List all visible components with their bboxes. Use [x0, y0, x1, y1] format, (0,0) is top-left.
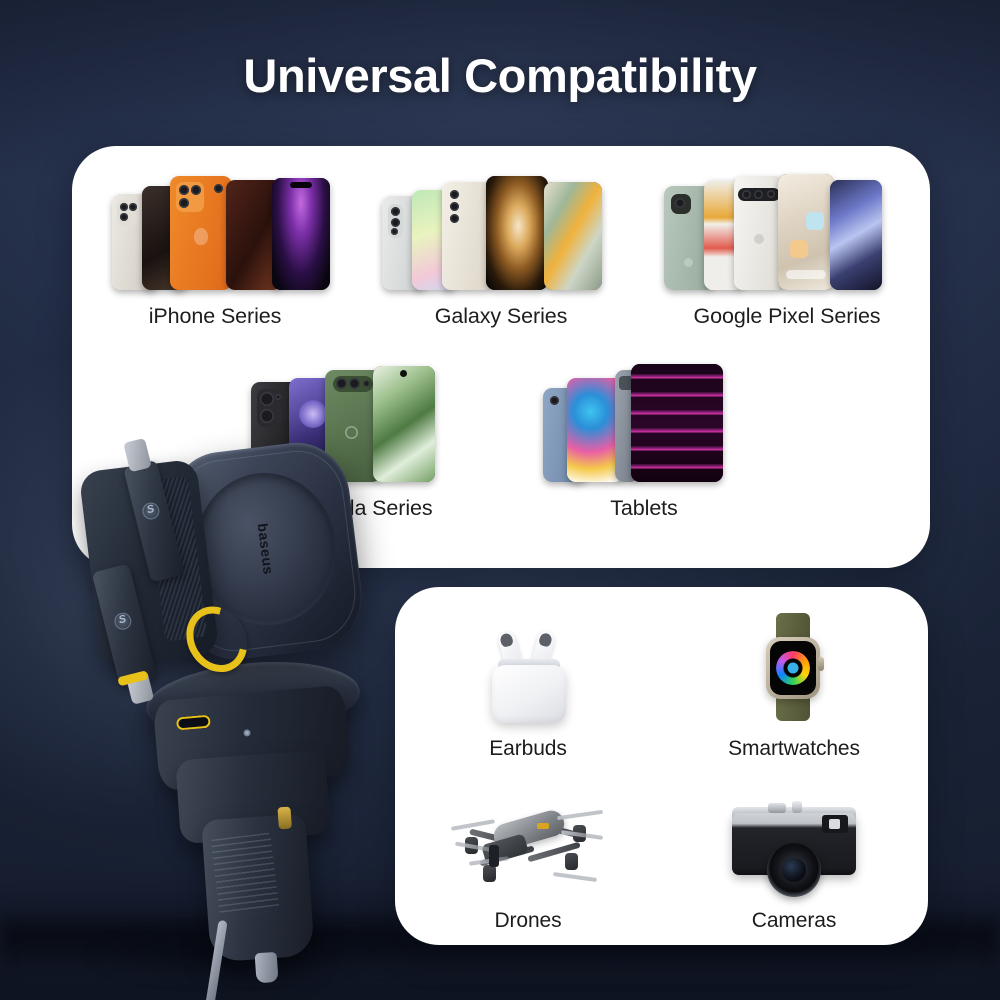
- compat-item-cameras: Cameras: [661, 783, 927, 933]
- compat-label: Cameras: [661, 909, 927, 933]
- tablet-cluster-icon: [501, 364, 787, 482]
- compat-label: Smartwatches: [661, 737, 927, 761]
- baseus-swirl-icon: [113, 611, 134, 632]
- pixel-front-starburst: [778, 174, 834, 290]
- accessories-card: Earbuds: [395, 587, 928, 945]
- iphone-orange: [170, 176, 232, 290]
- compat-item-iphone: iPhone Series: [72, 172, 358, 329]
- camera-dial: [768, 803, 786, 813]
- product-image-baseus-car-charger: baseus: [60, 425, 390, 995]
- product-feature-graphic: Universal Compatibility: [0, 0, 1000, 1000]
- usb-c-output-port: [176, 715, 211, 731]
- compat-item-galaxy: Galaxy Series: [358, 172, 644, 329]
- camera-viewfinder: [822, 815, 848, 833]
- iphone-purple: [272, 178, 330, 290]
- watch-crown: [818, 657, 824, 671]
- watch-case: [766, 637, 820, 699]
- compat-item-smartwatches: Smartwatches: [661, 611, 927, 761]
- compat-label: Earbuds: [395, 737, 661, 761]
- pixel-cluster-icon: [644, 172, 930, 290]
- compat-item-pixel: Google Pixel Series: [644, 172, 930, 329]
- galaxy-fold: [544, 182, 602, 290]
- tablet-ipad-pro-front: [631, 364, 723, 482]
- galaxy-cream: [442, 182, 492, 290]
- watch-screen: [770, 641, 816, 695]
- plug-tip-contact: [255, 952, 279, 983]
- galaxy-cluster-icon: [358, 172, 644, 290]
- compat-label: Google Pixel Series: [644, 304, 930, 329]
- camera-icon: [661, 783, 927, 895]
- usb-c-connector-secondary: [92, 564, 157, 688]
- camera-lens: [767, 843, 821, 897]
- earbuds-case: [492, 665, 566, 723]
- compat-item-tablets: Tablets: [501, 364, 787, 521]
- compat-item-drones: Drones: [395, 783, 661, 933]
- earbuds-icon: [395, 611, 661, 723]
- devices-row-1: iPhone Series: [72, 172, 930, 329]
- baseus-swirl-icon: [141, 501, 162, 522]
- plug-spec-text: [211, 833, 280, 918]
- compat-label: Drones: [395, 909, 661, 933]
- page-title: Universal Compatibility: [0, 48, 1000, 103]
- accessories-row-2: Drones Cameras: [395, 783, 928, 933]
- smartwatch-icon: [661, 611, 927, 723]
- status-led: [243, 729, 251, 737]
- camera-shutter-button: [792, 801, 802, 813]
- compat-item-earbuds: Earbuds: [395, 611, 661, 761]
- watch-center-dot: [788, 663, 799, 674]
- plug-side-contact: [277, 807, 292, 830]
- compat-label: Tablets: [501, 496, 787, 521]
- drone-icon: [395, 783, 661, 895]
- iphone-cluster-icon: [72, 172, 358, 290]
- galaxy-s23-front: [486, 176, 548, 290]
- pixel-white-camerabar: [734, 176, 784, 290]
- accessories-row-1: Earbuds: [395, 611, 928, 761]
- pixel-fold-purple: [830, 180, 882, 290]
- compat-label: iPhone Series: [72, 304, 358, 329]
- compat-label: Galaxy Series: [358, 304, 644, 329]
- usb-c-tip: [123, 438, 152, 472]
- cable-housing: [78, 459, 219, 668]
- baseus-logo: baseus: [255, 522, 277, 575]
